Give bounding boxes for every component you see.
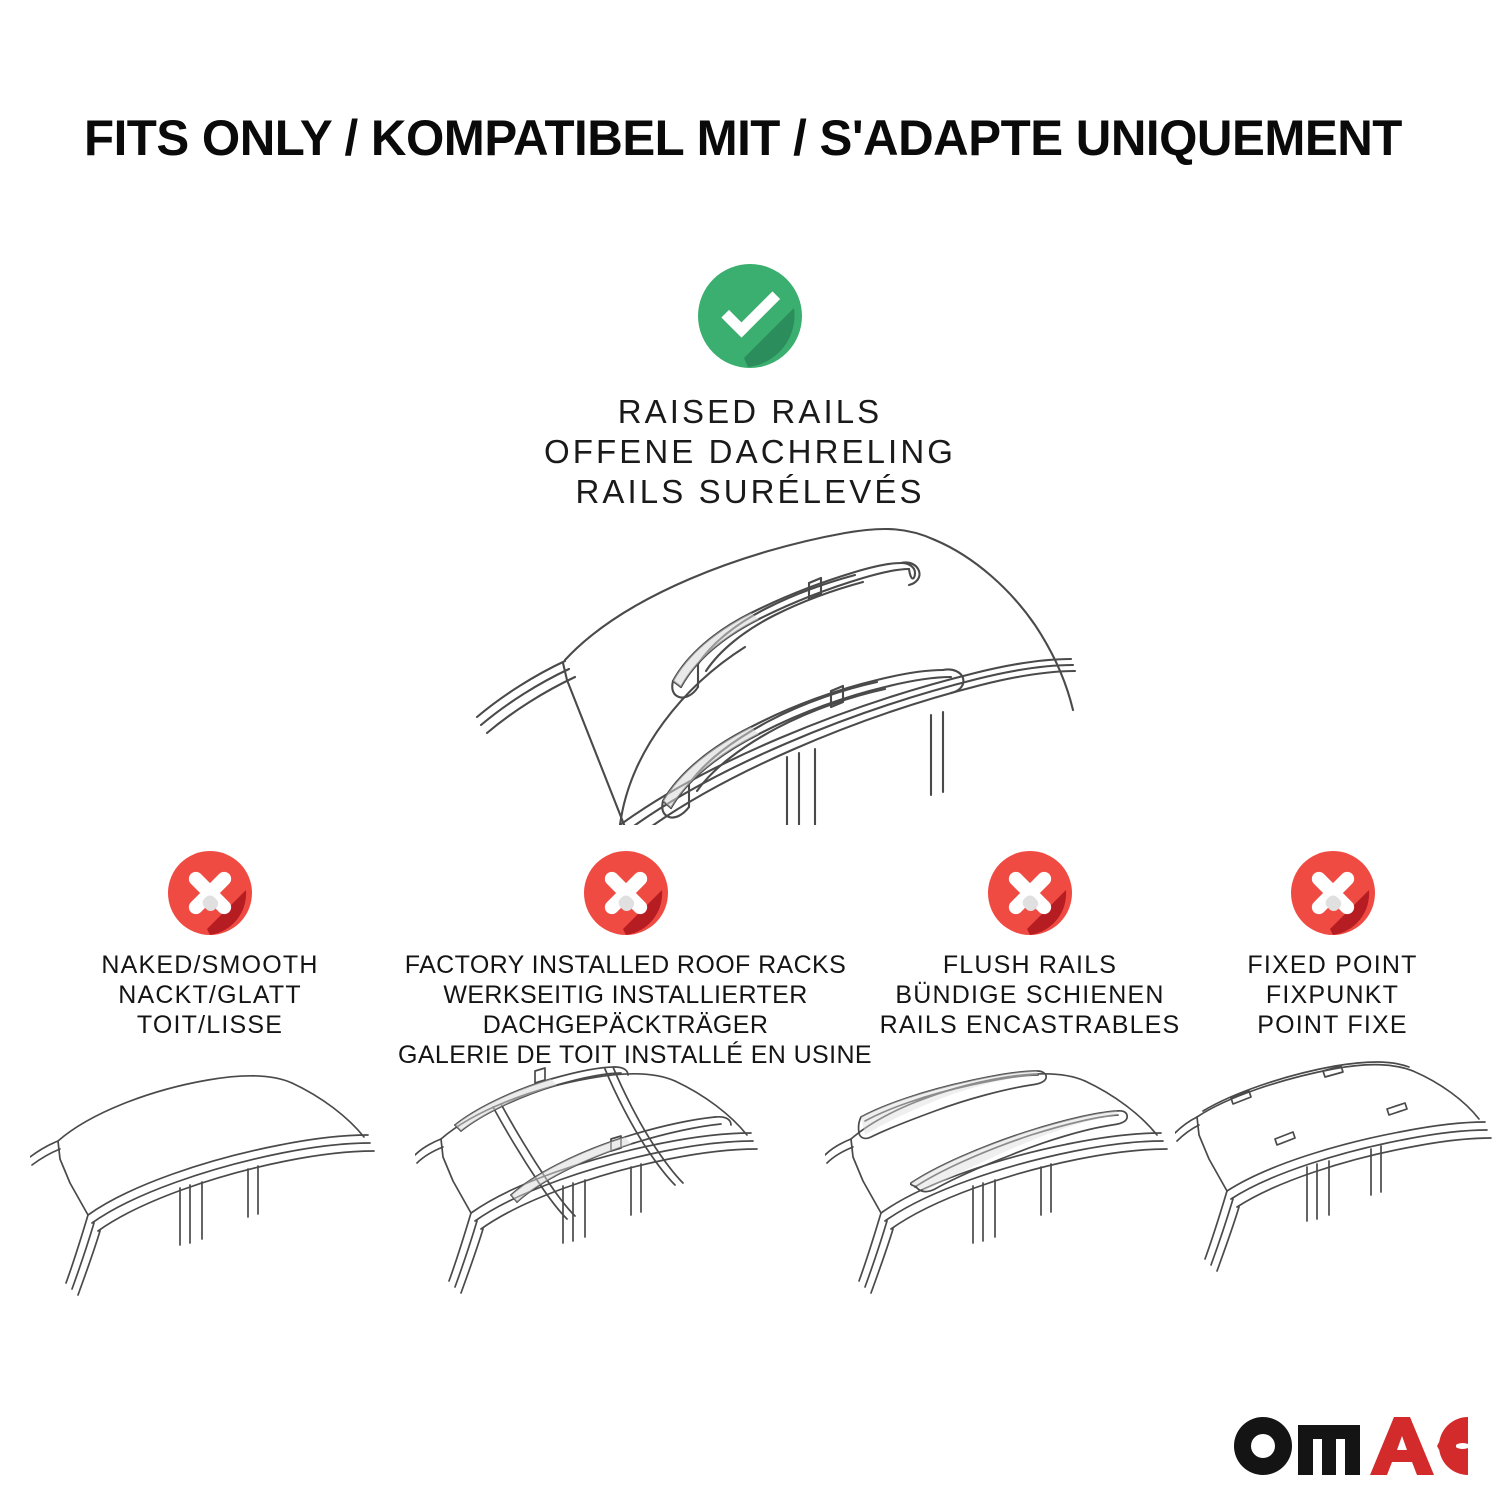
incompatible-item-flush-rails: FLUSH RAILS BÜNDIGE SCHIENEN RAILS ENCAS… [860,850,1200,1040]
check-circle-icon [696,262,804,370]
incompatible-label-de: NACKT/GLATT [40,980,380,1010]
x-circle-icon [167,850,253,936]
page-title: FITS ONLY / KOMPATIBEL MIT / S'ADAPTE UN… [84,108,1404,168]
x-circle-icon [987,850,1073,936]
incompatible-label-en: FLUSH RAILS [860,950,1200,980]
incompatible-label-fr: POINT FIXE [1190,1010,1475,1040]
incompatible-item-fixed-point: FIXED POINT FIXPUNKT POINT FIXE [1190,850,1475,1040]
car-roof-raised-rails-drawing [415,495,1105,825]
compatible-label-group: RAISED RAILS OFFENE DACHRELING RAILS SUR… [380,392,1120,512]
car-roof-naked-smooth-drawing [30,1055,410,1300]
omac-logo: OMAC [1232,1415,1468,1475]
incompatible-label-group: FACTORY INSTALLED ROOF RACKS WERKSEITIG … [398,950,853,1070]
incompatible-label-en: NAKED/SMOOTH [40,950,380,980]
incompatible-label-fr: TOIT/LISSE [40,1010,380,1040]
incompatible-label-fr: RAILS ENCASTRABLES [860,1010,1200,1040]
incompatible-label-group: NAKED/SMOOTH NACKT/GLATT TOIT/LISSE [40,950,380,1040]
incompatible-label-group: FLUSH RAILS BÜNDIGE SCHIENEN RAILS ENCAS… [860,950,1200,1040]
x-circle-icon [1290,850,1376,936]
logo-letter-c-shape [1439,1417,1468,1475]
incompatible-item-factory-racks: FACTORY INSTALLED ROOF RACKS WERKSEITIG … [398,850,853,1070]
car-roof-factory-racks-drawing [415,1055,795,1300]
x-circle-icon [583,850,669,936]
logo-letter-o [1234,1417,1292,1475]
compatible-section: RAISED RAILS OFFENE DACHRELING RAILS SUR… [380,262,1120,512]
incompatible-label-de-1: WERKSEITIG INSTALLIERTER [398,980,853,1010]
car-roof-flush-rails-drawing [825,1055,1210,1300]
fitment-infographic: FITS ONLY / KOMPATIBEL MIT / S'ADAPTE UN… [0,0,1500,1500]
incompatible-label-en: FACTORY INSTALLED ROOF RACKS [398,950,853,980]
logo-letter-m [1298,1425,1360,1475]
incompatible-label-group: FIXED POINT FIXPUNKT POINT FIXE [1190,950,1475,1040]
compatible-label-en: RAISED RAILS [380,392,1120,432]
logo-letter-a [1370,1417,1434,1475]
car-roof-fixed-point-drawing [1175,1055,1500,1300]
incompatible-label-de-2: DACHGEPÄCKTRÄGER [398,1010,853,1040]
incompatible-label-en: FIXED POINT [1190,950,1475,980]
incompatible-label-de: BÜNDIGE SCHIENEN [860,980,1200,1010]
incompatible-label-de: FIXPUNKT [1190,980,1475,1010]
incompatible-item-naked-smooth: NAKED/SMOOTH NACKT/GLATT TOIT/LISSE [40,850,380,1040]
compatible-label-de: OFFENE DACHRELING [380,432,1120,472]
